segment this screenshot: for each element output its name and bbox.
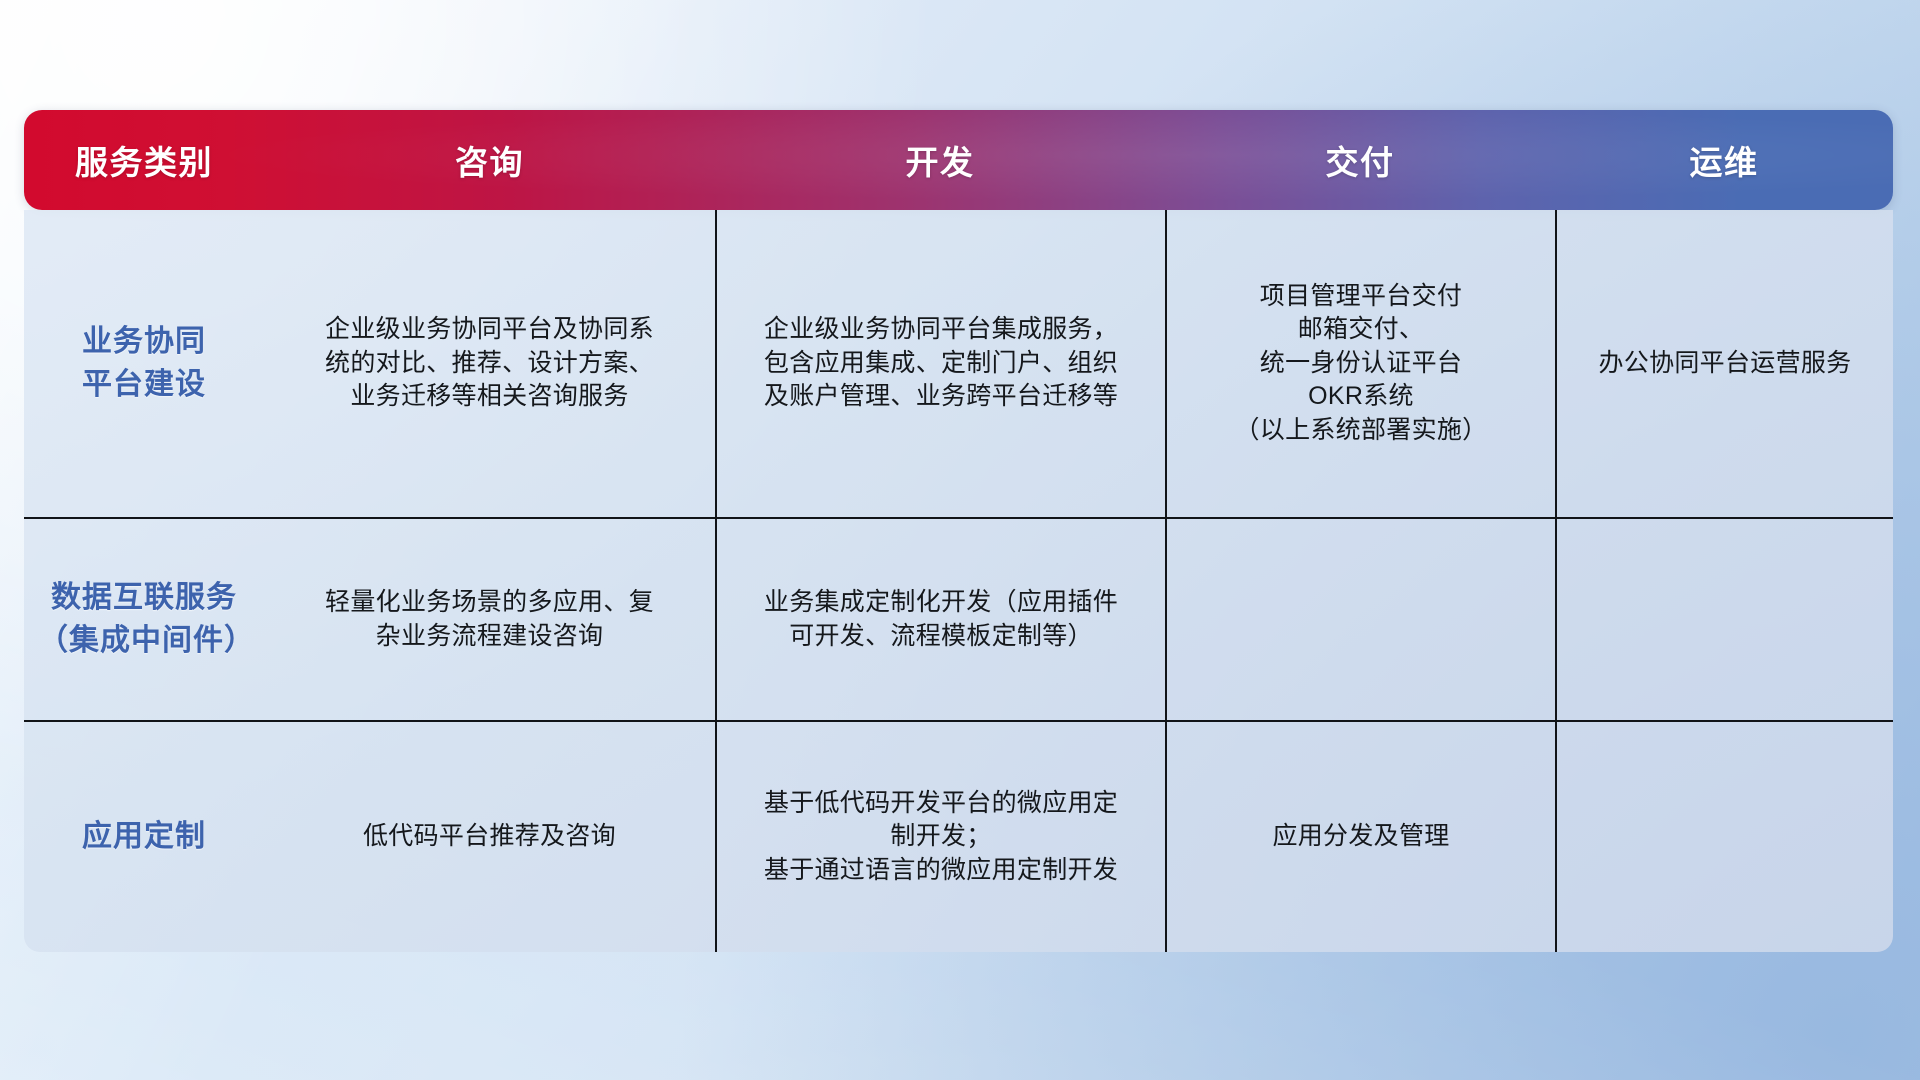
cell-delivery	[1165, 519, 1555, 720]
table-row: 应用定制 低代码平台推荐及咨询 基于低代码开发平台的微应用定 制开发； 基于通过…	[24, 720, 1893, 952]
cell-consulting: 低代码平台推荐及咨询	[264, 722, 715, 952]
table-row: 数据互联服务 （集成中间件） 轻量化业务场景的多应用、复 杂业务流程建设咨询 业…	[24, 517, 1893, 720]
column-header-category: 服务类别	[24, 110, 264, 210]
table-header-row: 服务类别 咨询 开发 交付 运维	[24, 110, 1893, 210]
cell-development: 业务集成定制化开发（应用插件 可开发、流程模板定制等）	[715, 519, 1165, 720]
cell-delivery: 项目管理平台交付 邮箱交付、 统一身份认证平台 OKR系统 （以上系统部署实施）	[1165, 210, 1555, 517]
cell-consulting: 轻量化业务场景的多应用、复 杂业务流程建设咨询	[264, 519, 715, 720]
cell-development: 基于低代码开发平台的微应用定 制开发； 基于通过语言的微应用定制开发	[715, 722, 1165, 952]
table-row: 业务协同 平台建设 企业级业务协同平台及协同系 统的对比、推荐、设计方案、 业务…	[24, 210, 1893, 517]
cell-development: 企业级业务协同平台集成服务， 包含应用集成、定制门户、组织 及账户管理、业务跨平…	[715, 210, 1165, 517]
row-category-label: 应用定制	[24, 722, 264, 952]
column-header-delivery: 交付	[1165, 110, 1555, 210]
service-category-table: 服务类别 咨询 开发 交付 运维 业务协同 平台建设 企业级业务协同平台及协同系…	[24, 110, 1893, 952]
table-body: 业务协同 平台建设 企业级业务协同平台及协同系 统的对比、推荐、设计方案、 业务…	[24, 210, 1893, 952]
cell-operations: 办公协同平台运营服务	[1555, 210, 1893, 517]
cell-operations	[1555, 722, 1893, 952]
cell-operations	[1555, 519, 1893, 720]
row-category-label: 业务协同 平台建设	[24, 210, 264, 517]
column-header-consulting: 咨询	[264, 110, 715, 210]
column-header-operations: 运维	[1555, 110, 1893, 210]
column-header-development: 开发	[715, 110, 1165, 210]
cell-delivery: 应用分发及管理	[1165, 722, 1555, 952]
cell-consulting: 企业级业务协同平台及协同系 统的对比、推荐、设计方案、 业务迁移等相关咨询服务	[264, 210, 715, 517]
row-category-label: 数据互联服务 （集成中间件）	[24, 519, 264, 720]
